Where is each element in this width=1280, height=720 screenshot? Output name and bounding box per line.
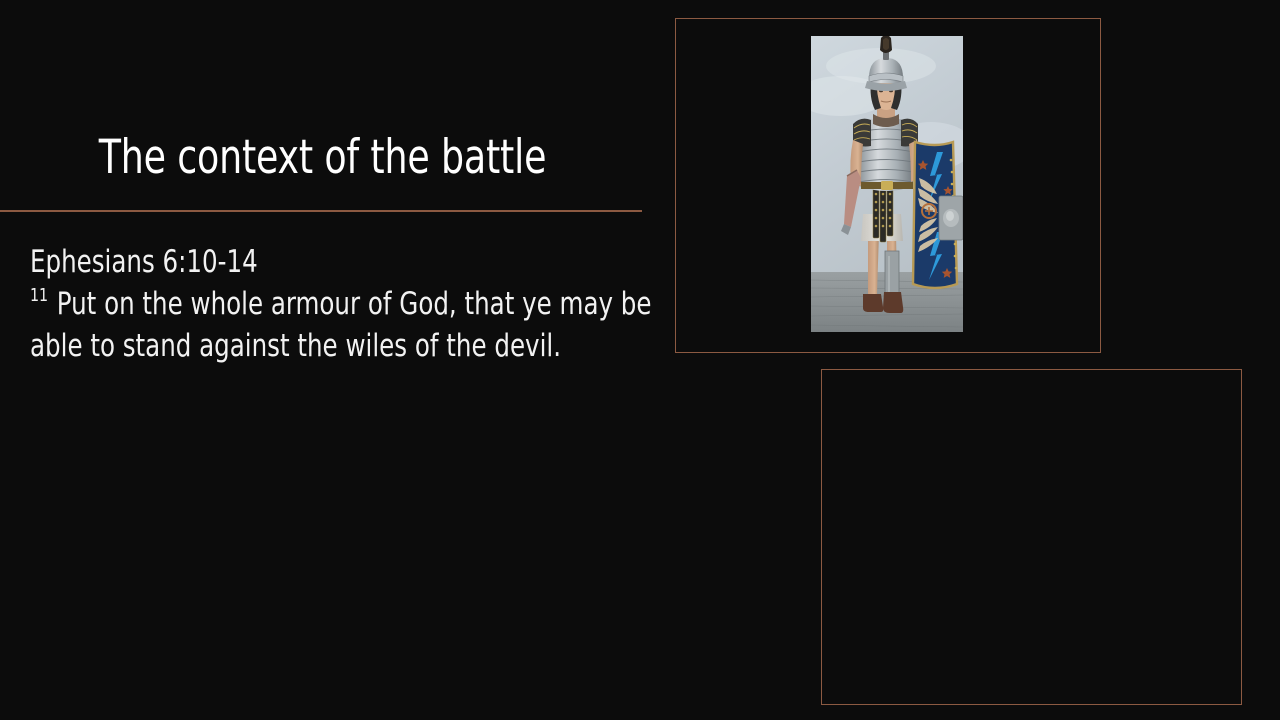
scripture-verse: 11 Put on the whole armour of God, that … xyxy=(30,283,655,367)
roman-soldier-image xyxy=(811,36,963,332)
slide-canvas: The context of the battle Ephesians 6:10… xyxy=(0,0,1280,720)
scripture-reference: Ephesians 6:10-14 xyxy=(30,241,580,283)
verse-body-text: Put on the whole armour of God, that ye … xyxy=(30,286,652,364)
picture-frame-empty-placeholder[interactable] xyxy=(821,369,1242,705)
title-divider-rule xyxy=(0,210,642,212)
body-text-block: Ephesians 6:10-14 11 Put on the whole ar… xyxy=(30,241,655,367)
verse-number: 11 xyxy=(30,285,49,306)
picture-frame-roman-soldier[interactable] xyxy=(675,18,1101,353)
page-title: The context of the battle xyxy=(45,132,600,185)
